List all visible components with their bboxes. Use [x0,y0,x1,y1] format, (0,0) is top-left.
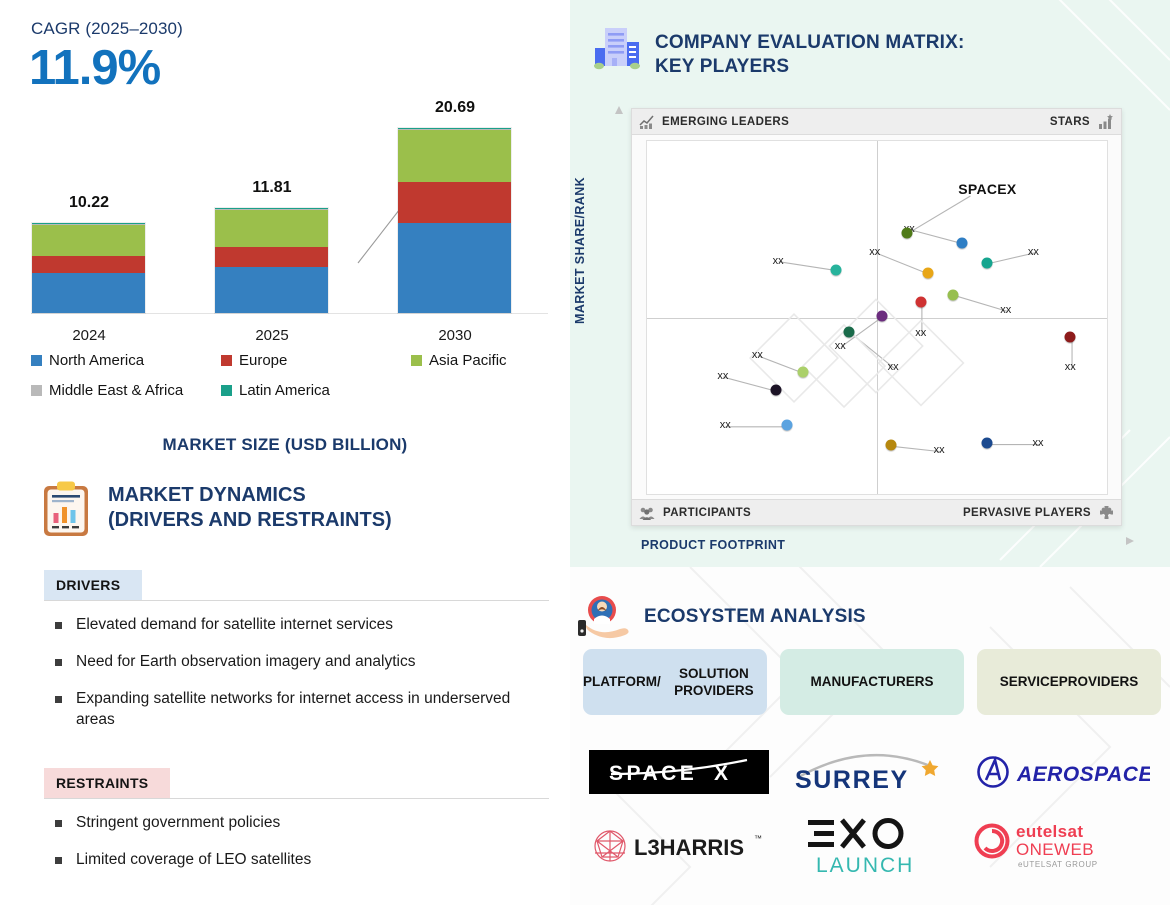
drivers-section-tab: DRIVERS [44,570,142,600]
x-axis-arrow-icon [1126,536,1138,546]
matrix-point-label: xx [773,255,784,267]
drivers-list: Elevated demand for satellite internet s… [44,614,549,746]
bar-segment-europe [398,182,511,223]
legend-label: North America [49,352,144,369]
bar-group: 10.222024 [31,222,146,314]
ecosystem-category-label: PROVIDERS [1059,673,1139,690]
matrix-chart-box: EMERGING LEADERS STARS [631,108,1122,526]
restraints-list: Stringent government policiesLimited cov… [44,812,549,886]
quadrant-stars-label: STARS [1050,116,1090,128]
bar-segment-north-america [32,273,145,313]
matrix-data-point[interactable] [947,289,958,300]
legend-swatch [31,355,42,366]
dynamics-title-line1: MARKET DYNAMICS [108,483,392,508]
dynamics-title-line2: (DRIVERS AND RESTRAINTS) [108,508,392,533]
matrix-x-axis-title: PRODUCT FOOTPRINT [641,538,785,552]
svg-text:L3HARRIS: L3HARRIS [634,835,744,860]
legend-swatch [31,385,42,396]
logo-l3harris: L3HARRIS ™ [586,823,771,869]
market-size-bar-chart: 10.22202411.81202520.692030 [0,60,570,350]
l3harris-logo-icon: L3HARRIS ™ [586,823,771,869]
restraints-divider [44,798,549,799]
ecosystem-categories: PLATFORM/SOLUTION PROVIDERSMANUFACTURERS… [583,649,1161,715]
legend-item-north-america[interactable]: North America [31,352,221,369]
bullet-marker [55,696,62,703]
matrix-title-line1: COMPANY EVALUATION MATRIX: [655,31,965,55]
matrix-point-label: xx [1000,304,1011,316]
quadrant-pervasive-players-label: PERVASIVE PLAYERS [963,507,1091,519]
matrix-data-point[interactable] [876,310,887,321]
bullet-marker [55,820,62,827]
bullet-marker [55,857,62,864]
driver-item: Expanding satellite networks for interne… [44,688,549,730]
matrix-point-label: xx [915,327,926,339]
right-column: COMPANY EVALUATION MATRIX: KEY PLAYERS E… [570,0,1170,905]
svg-text:AEROSPACE: AEROSPACE [1016,763,1150,786]
bar-segment-north-america [215,267,328,313]
ecosystem-category-label: PLATFORM/ [583,673,661,690]
company-evaluation-matrix-panel: COMPANY EVALUATION MATRIX: KEY PLAYERS E… [570,0,1170,567]
left-column: CAGR (2025–2030) 11.9% 10.22202411.81202… [0,0,570,905]
matrix-data-point[interactable] [982,437,993,448]
quadrant-emerging-leaders-label: EMERGING LEADERS [662,116,789,128]
ecosystem-category-card[interactable]: PLATFORM/SOLUTION PROVIDERS [583,649,767,715]
matrix-point-label: xx [717,370,728,382]
logo-aerospace: AEROSPACE [975,752,1150,792]
legend-item-asia-pacific[interactable]: Asia Pacific [411,352,551,369]
svg-text:™: ™ [754,834,762,843]
matrix-title: COMPANY EVALUATION MATRIX: KEY PLAYERS [655,31,965,79]
bullet-text: Limited coverage of LEO satellites [76,849,311,870]
matrix-data-point[interactable] [922,268,933,279]
matrix-data-point[interactable] [782,420,793,431]
matrix-data-point[interactable] [844,326,855,337]
matrix-point-label: xx [888,361,899,373]
matrix-title-line2: KEY PLAYERS [655,55,965,79]
market-size-title: MARKET SIZE (USD BILLION) [0,435,570,455]
ecosystem-header: ECOSYSTEM ANALYSIS [578,594,866,640]
svg-text:SURREY: SURREY [795,766,909,794]
bar-segment-asia-pacific [398,130,511,182]
ecosystem-category-card[interactable]: MANUFACTURERS [780,649,964,715]
stacked-bar[interactable] [397,127,512,314]
matrix-header: COMPANY EVALUATION MATRIX: KEY PLAYERS [593,22,965,79]
logo-spacex: SPACE X [589,750,769,794]
legend-item-middle-east-africa[interactable]: Middle East & Africa [31,382,221,399]
surrey-logo-icon: SURREY [785,746,955,798]
growth-chart-icon [639,115,654,129]
drivers-divider [44,600,549,601]
market-dynamics-title: MARKET DYNAMICS (DRIVERS AND RESTRAINTS) [108,483,392,533]
bullet-text: Need for Earth observation imagery and a… [76,651,415,672]
cagr-label: CAGR (2025–2030) [31,19,183,39]
legend-label: Europe [239,352,287,369]
ecosystem-category-label: SERVICE [1000,673,1059,690]
matrix-point-label: xx [835,340,846,352]
bar-total-label: 20.69 [375,99,535,117]
matrix-data-point[interactable] [982,257,993,268]
matrix-data-point[interactable] [830,264,841,275]
bar-group: 11.812025 [214,207,329,314]
legend-item-latin-america[interactable]: Latin America [221,382,411,399]
svg-text:eUTELSAT GROUP: eUTELSAT GROUP [1018,860,1098,869]
eutelsat-oneweb-logo-icon: eutelsat ONEWEB eUTELSAT GROUP [972,819,1152,873]
legend-item-europe[interactable]: Europe [221,352,411,369]
ecosystem-category-label: SOLUTION PROVIDERS [661,665,767,700]
office-building-icon [593,22,641,72]
bullet-text: Elevated demand for satellite internet s… [76,614,393,635]
matrix-data-point-spacex[interactable] [901,227,912,238]
matrix-data-point[interactable] [798,367,809,378]
restraint-item: Stringent government policies [44,812,549,833]
ecosystem-category-label: MANUFACTURERS [811,673,934,690]
matrix-point-label: xx [720,419,731,431]
bar-total-label: 10.22 [9,194,169,212]
matrix-bottom-quadrant-bar: PARTICIPANTS PERVASIVE PLAYERS [632,499,1121,525]
legend-swatch [411,355,422,366]
bar-segment-asia-pacific [32,225,145,256]
matrix-point-label: xx [934,444,945,456]
bullet-text: Expanding satellite networks for interne… [76,688,549,730]
restraints-section-tab: RESTRAINTS [44,768,170,798]
bar-x-label: 2024 [9,327,169,344]
logo-surrey: SURREY [785,746,955,798]
bar-group: 20.692030 [397,127,512,314]
legend-label: Latin America [239,382,330,399]
bar-total-label: 11.81 [192,179,352,197]
ecosystem-analysis-panel: ECOSYSTEM ANALYSIS PLATFORM/SOLUTION PRO… [570,567,1170,905]
svg-text:eutelsat: eutelsat [1016,822,1083,841]
matrix-point-label: xx [1028,246,1039,258]
stacked-bar[interactable] [31,222,146,314]
aerospace-logo-icon: AEROSPACE [975,752,1150,792]
matrix-data-point[interactable] [915,296,926,307]
bar-segment-europe [32,256,145,274]
chart-legend: North AmericaEuropeAsia PacificMiddle Ea… [31,352,551,412]
matrix-plot-area: xxxxxxxxxxxxxxxxxxxxxxxxxxxxSPACEX [646,140,1108,495]
y-axis-arrow-icon [614,106,624,118]
matrix-data-point[interactable] [770,384,781,395]
driver-item: Elevated demand for satellite internet s… [44,614,549,635]
ecosystem-title: ECOSYSTEM ANALYSIS [644,606,866,628]
quadrant-participants-label: PARTICIPANTS [663,507,751,519]
bullet-marker [55,659,62,666]
matrix-data-point[interactable] [1065,331,1076,342]
legend-swatch [221,385,232,396]
exolaunch-logo-icon: LAUNCH [800,814,940,878]
stacked-bar[interactable] [214,207,329,314]
matrix-point-label: xx [752,349,763,361]
bar-x-label: 2025 [192,327,352,344]
matrix-point-label: xx [1065,361,1076,373]
bullet-text: Stringent government policies [76,812,280,833]
matrix-point-label: xx [1033,437,1044,449]
star-bars-icon [1098,114,1114,129]
logo-eutelsat-oneweb: eutelsat ONEWEB eUTELSAT GROUP [972,819,1152,873]
ecosystem-logo-grid: SPACE X SURREY AERO [583,735,1158,883]
bar-segment-north-america [398,223,511,313]
matrix-data-point[interactable] [957,238,968,249]
matrix-top-quadrant-bar: EMERGING LEADERS STARS [632,109,1121,135]
restraint-item: Limited coverage of LEO satellites [44,849,549,870]
bullet-marker [55,622,62,629]
matrix-point-label-spacex: SPACEX [958,181,1016,197]
matrix-data-point[interactable] [885,439,896,450]
legend-swatch [221,355,232,366]
svg-text:ONEWEB: ONEWEB [1016,840,1094,859]
svg-text:LAUNCH: LAUNCH [816,854,914,877]
legend-label: Asia Pacific [429,352,507,369]
legend-row: North AmericaEuropeAsia Pacific [31,352,551,369]
hand-holding-person-icon [578,594,634,640]
bar-segment-asia-pacific [215,210,328,246]
driver-item: Need for Earth observation imagery and a… [44,651,549,672]
puzzle-piece-icon [1099,505,1114,520]
matrix-point-label: xx [869,246,880,258]
participants-people-icon [639,506,655,520]
ecosystem-category-card[interactable]: SERVICEPROVIDERS [977,649,1161,715]
market-dynamics-header: MARKET DYNAMICS (DRIVERS AND RESTRAINTS) [40,480,392,538]
logo-exolaunch: LAUNCH [800,814,940,878]
bar-x-label: 2030 [375,327,535,344]
spacex-logo-icon: SPACE X [589,750,769,794]
legend-label: Middle East & Africa [49,382,183,399]
matrix-y-axis-title: MARKET SHARE/RANK [573,177,587,324]
bar-segment-europe [215,247,328,267]
clipboard-icon [40,480,92,538]
legend-row: Middle East & AfricaLatin America [31,382,551,399]
